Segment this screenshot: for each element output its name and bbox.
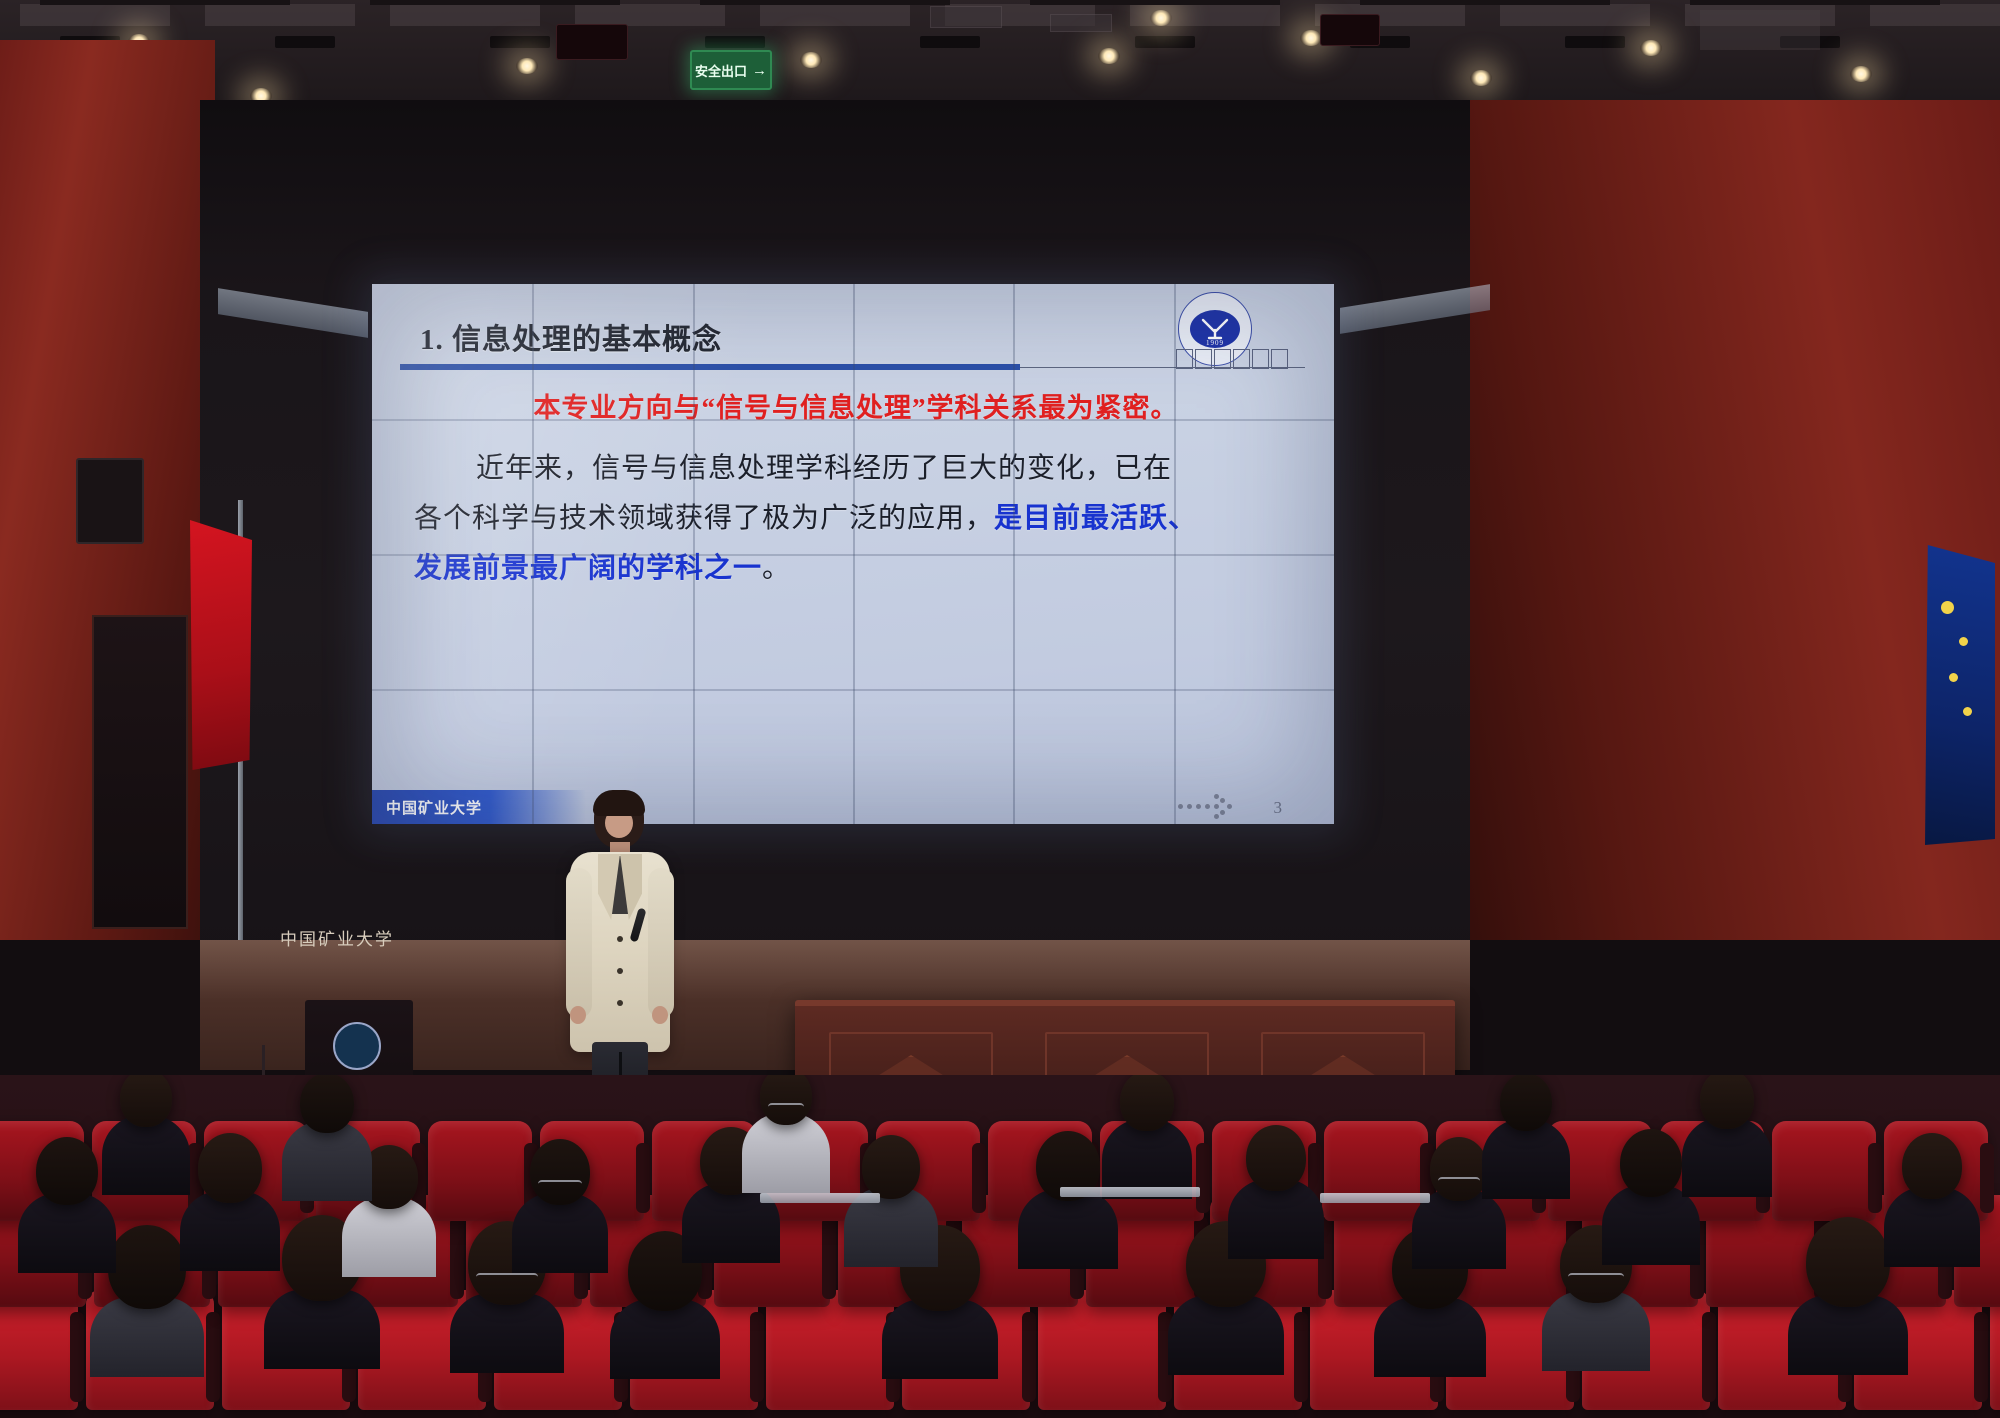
audience-member-head <box>120 1075 172 1127</box>
logo-emblem: 1909 <box>1190 310 1240 348</box>
audience-member-shoulders <box>1168 1295 1284 1375</box>
wall-speaker <box>76 458 144 544</box>
logo-year: 1909 <box>1190 339 1240 347</box>
audience-member-head <box>862 1135 920 1199</box>
ceiling-speaker <box>1320 14 1380 46</box>
podium-emblem-icon <box>333 1022 381 1070</box>
ceiling-light <box>1098 48 1120 64</box>
ceiling-slot <box>705 36 765 48</box>
lecture-hall-photo: 安全出口 → 1. 信息处理的基本概念 <box>0 0 2000 1418</box>
dot-arrow-icon <box>1178 798 1234 814</box>
auditorium-seat <box>1990 1290 2000 1410</box>
seat-armrest <box>206 1312 220 1402</box>
seat-armrest <box>1022 1312 1036 1402</box>
audience-member-head <box>1806 1217 1890 1307</box>
presenter-hair <box>593 790 645 816</box>
presenter <box>560 790 680 1120</box>
ceiling-panel <box>20 4 170 26</box>
auditorium-seat <box>766 1290 894 1410</box>
slide-page-number: 3 <box>1274 798 1283 818</box>
audience-member-head <box>1430 1137 1488 1201</box>
audience-member-head <box>1246 1125 1306 1191</box>
ceiling-beam <box>700 0 950 5</box>
ceiling-light <box>1300 30 1322 46</box>
ceiling-vent <box>1050 14 1112 32</box>
led-seam-horizontal <box>372 419 1334 421</box>
ceiling-panel <box>760 4 910 26</box>
audience-area <box>0 1075 2000 1418</box>
flag-star <box>1963 707 1972 716</box>
seat-back-desk <box>1060 1187 1200 1197</box>
projection-screen: 1. 信息处理的基本概念 1909 <box>372 284 1334 824</box>
audience-member-head <box>1620 1129 1682 1197</box>
ceiling-panel <box>1870 4 2000 26</box>
auditorium-seat <box>0 1290 78 1410</box>
coat-button <box>617 936 623 942</box>
footer-banner-label: 中国矿业大学 <box>386 797 482 818</box>
stage-header-curtain <box>200 100 1470 290</box>
auditorium-seat <box>428 1121 532 1221</box>
auditorium-seat <box>1038 1290 1166 1410</box>
paragraph-line-3-plain: 。 <box>762 553 791 584</box>
auditorium-seat <box>1324 1121 1428 1221</box>
title-rule-thick <box>400 364 1020 370</box>
ceiling-slot <box>920 36 980 48</box>
audience-member-shoulders <box>1884 1187 1980 1267</box>
ceiling-light <box>1470 70 1492 86</box>
audience-member-shoulders <box>1542 1291 1650 1371</box>
audience-member-shoulders <box>610 1299 720 1379</box>
slide-paragraph: 近年来，信号与信息处理学科经历了巨大的变化，已在 各个科学与技术领域获得了极为广… <box>414 444 1304 594</box>
ceiling-slot <box>490 36 550 48</box>
audience-member-head <box>300 1075 354 1133</box>
ceiling-panel <box>1700 10 1820 50</box>
presenter-hand-left <box>570 1006 586 1024</box>
seat-armrest <box>1974 1312 1988 1402</box>
audience-member-shoulders <box>512 1193 608 1273</box>
wall-right <box>1455 100 2000 940</box>
audience-member-head <box>1700 1075 1754 1129</box>
ceiling-beam <box>1690 0 1940 5</box>
flag-left <box>190 520 252 770</box>
audience-member-head <box>1120 1075 1174 1131</box>
exit-sign-label: 安全出口 <box>695 61 747 80</box>
eyeglasses-icon <box>768 1103 804 1113</box>
ceiling-vent <box>930 6 1002 28</box>
audience-member-shoulders <box>342 1197 436 1277</box>
coat-button <box>617 1000 623 1006</box>
seat-back-desk <box>760 1193 880 1203</box>
ceiling-beam <box>40 0 290 5</box>
footer-banner: 中国矿业大学 <box>372 790 586 824</box>
paragraph-line-1: 近年来，信号与信息处理学科经历了巨大的变化，已在 <box>476 453 1172 484</box>
audience-member-shoulders <box>1374 1297 1486 1377</box>
seat-armrest <box>1702 1312 1716 1402</box>
audience-member-head <box>36 1137 98 1205</box>
audience-member-head <box>760 1075 812 1125</box>
eyeglasses-icon <box>476 1273 538 1283</box>
seat-armrest <box>450 1217 464 1299</box>
ceiling-slot <box>275 36 335 48</box>
audience-member-shoulders <box>1482 1119 1570 1199</box>
paragraph-line-2-highlight: 是目前最活跃、 <box>994 503 1197 534</box>
seat-armrest <box>70 1312 84 1402</box>
logo-wordmark <box>1176 348 1288 370</box>
seat-armrest <box>1980 1143 1994 1213</box>
audience-member-shoulders <box>882 1299 998 1379</box>
seat-armrest <box>972 1143 986 1213</box>
eyeglasses-icon <box>1438 1177 1480 1187</box>
eyeglasses-icon <box>1568 1273 1624 1283</box>
audience-member-head <box>108 1225 186 1309</box>
side-door <box>92 615 188 929</box>
seat-armrest <box>750 1312 764 1402</box>
ceiling-beam <box>1030 0 1280 5</box>
ceiling-light <box>1850 66 1872 82</box>
audience-member-shoulders <box>1018 1189 1118 1269</box>
audience-member-head <box>198 1133 262 1203</box>
auditorium-seat <box>1772 1121 1876 1221</box>
ceiling-panel <box>390 4 540 26</box>
seat-armrest <box>1196 1143 1210 1213</box>
audience-member-shoulders <box>1602 1185 1700 1265</box>
ceiling-beam <box>1360 0 1610 5</box>
flag-star <box>1959 637 1968 646</box>
audience-member-shoulders <box>1228 1179 1324 1259</box>
flag-right <box>1925 545 1995 845</box>
flag-star <box>1949 673 1958 682</box>
ceiling-panel <box>205 4 355 26</box>
flag-star <box>1941 601 1954 614</box>
audience-member-shoulders <box>282 1121 372 1201</box>
paragraph-line-3-highlight: 发展前景最广阔的学科之一 <box>414 553 762 584</box>
exit-arrow-icon: → <box>752 62 767 79</box>
ceiling-slot <box>1135 36 1195 48</box>
paragraph-line-2-plain: 各个科学与技术领域获得了极为广泛的应用， <box>414 503 994 534</box>
seat-armrest <box>1868 1143 1882 1213</box>
university-logo: 1909 <box>1178 292 1286 364</box>
seat-armrest <box>1294 1312 1308 1402</box>
eyeglasses-icon <box>538 1180 582 1190</box>
audience-member-shoulders <box>1682 1117 1772 1197</box>
seat-armrest <box>822 1217 836 1299</box>
led-seam-horizontal <box>372 554 1334 556</box>
presenter-arm-left <box>566 868 592 1018</box>
audience-member-shoulders <box>1788 1295 1908 1375</box>
audience-member-shoulders <box>18 1193 116 1273</box>
audience-member-head <box>1902 1133 1962 1199</box>
ceiling-speaker <box>556 24 628 60</box>
ceiling-light <box>516 58 538 74</box>
audience-member-shoulders <box>742 1113 830 1193</box>
slide-title: 1. 信息处理的基本概念 <box>420 316 722 358</box>
seat-armrest <box>636 1143 650 1213</box>
presenter-arm-right <box>648 868 674 1018</box>
audience-member-shoulders <box>450 1293 564 1373</box>
audience-member-shoulders <box>180 1191 280 1271</box>
ceiling-slot <box>1565 36 1625 48</box>
podium-engraving: 中国矿业大学 <box>280 925 410 950</box>
seat-back-desk <box>1320 1193 1430 1203</box>
audience-member-head <box>1500 1075 1552 1131</box>
audience-member-shoulders <box>102 1115 190 1195</box>
ceiling-beam <box>370 0 620 5</box>
ceiling-panel <box>1500 4 1650 26</box>
presenter-hand-right <box>652 1006 668 1024</box>
led-seam-horizontal <box>372 689 1334 691</box>
audience-member-head <box>530 1139 590 1205</box>
coat-button <box>617 968 623 974</box>
ceiling-light <box>800 52 822 68</box>
exit-sign: 安全出口 → <box>690 50 772 90</box>
ceiling-panel <box>575 4 725 26</box>
audience-member-shoulders <box>90 1297 204 1377</box>
audience-member-shoulders <box>264 1289 380 1369</box>
ceiling-light <box>1150 10 1172 26</box>
ceiling-light <box>1640 40 1662 56</box>
crossed-pick-icon <box>1200 318 1230 340</box>
led-screen-surface: 1. 信息处理的基本概念 1909 <box>372 284 1334 824</box>
